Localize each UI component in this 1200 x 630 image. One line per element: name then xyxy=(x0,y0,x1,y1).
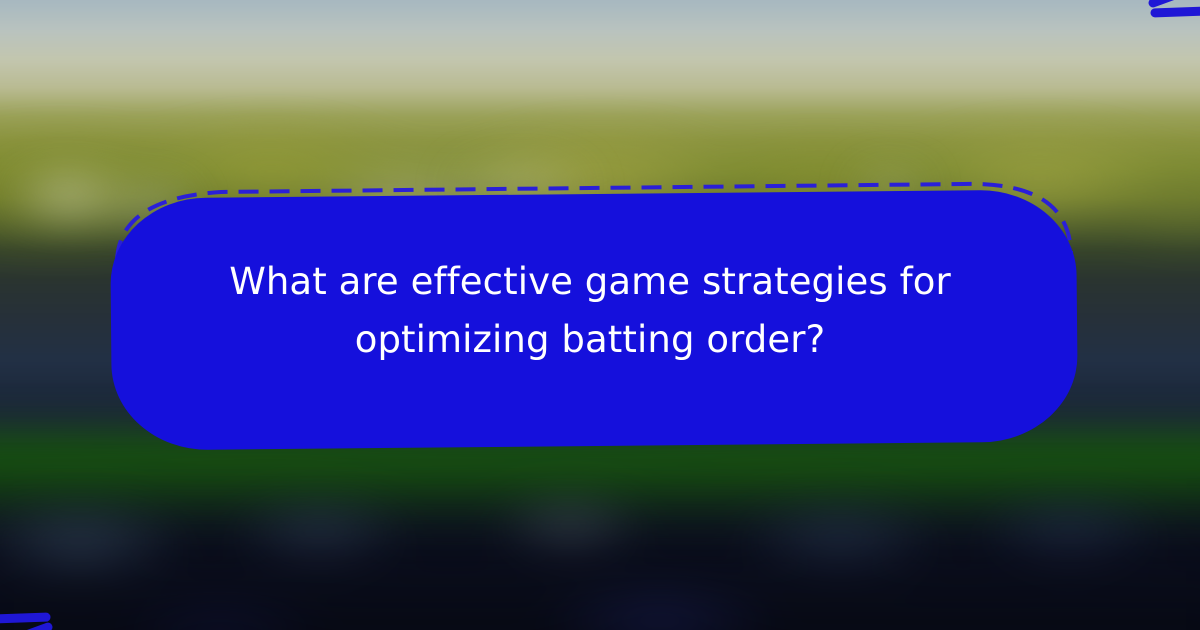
question-card: What are effective game strategies for o… xyxy=(103,182,1077,440)
starburst-ray xyxy=(1150,6,1200,17)
question-line-2: optimizing batting order? xyxy=(355,312,826,368)
screenshot-canvas: What are effective game strategies for o… xyxy=(0,0,1200,630)
card-text-block: What are effective game strategies for o… xyxy=(103,182,1077,440)
question-line-1: What are effective game strategies for xyxy=(229,254,951,310)
background-crowd xyxy=(0,470,1200,630)
